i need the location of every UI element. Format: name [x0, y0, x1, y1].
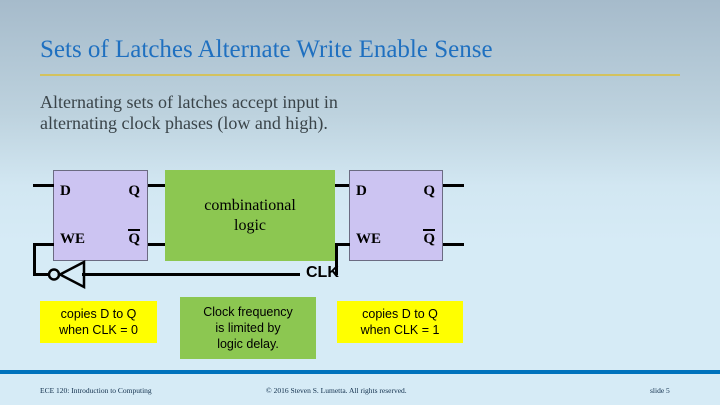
- wire-d-in-left: [33, 184, 54, 187]
- wire-we-left-drop: [33, 243, 36, 275]
- clk-label: CLK: [306, 264, 339, 282]
- footer-rule: [0, 370, 720, 374]
- latch-right-qbar-label: Q: [423, 231, 435, 248]
- latch-left-q-label: Q: [128, 183, 140, 200]
- combinational-logic-line-2: logic: [204, 216, 296, 236]
- page-title: Sets of Latches Alternate Write Enable S…: [40, 36, 680, 64]
- latch-right: D WE Q Q: [349, 170, 443, 261]
- latch-right-we-label: WE: [356, 231, 381, 248]
- callout-middle-line-3: logic delay.: [203, 336, 293, 352]
- combinational-logic-line-1: combinational: [204, 196, 296, 216]
- latch-right-d-label: D: [356, 183, 367, 200]
- latch-left-we-label: WE: [60, 231, 85, 248]
- latch-left-d-label: D: [60, 183, 71, 200]
- not-gate-icon: [46, 260, 96, 295]
- wire-we-left-stub: [33, 243, 54, 246]
- latch-right-qbar-text: Q: [423, 231, 435, 247]
- combinational-logic-block: combinational logic: [165, 170, 335, 261]
- callout-right: copies D to Q when CLK = 1: [337, 301, 463, 343]
- latch-left: D WE Q Q: [53, 170, 148, 261]
- callout-middle-line-1: Clock frequency: [203, 304, 293, 320]
- footer-copyright: © 2016 Steven S. Lumetta. All rights res…: [266, 386, 407, 395]
- wire-q-out-right: [443, 184, 464, 187]
- wire-we-right-drop: [335, 243, 338, 275]
- callout-left-line-2: when CLK = 0: [59, 322, 138, 338]
- latch-left-qbar-label: Q: [128, 231, 140, 248]
- wire-qbar-out-right: [443, 243, 464, 246]
- callout-middle-line-2: is limited by: [203, 320, 293, 336]
- title-underline-rule: [40, 74, 680, 76]
- wire-clk-bus: [82, 273, 300, 276]
- slide: Sets of Latches Alternate Write Enable S…: [0, 0, 720, 405]
- footer-slide-number: slide 5: [650, 386, 670, 395]
- callout-right-line-2: when CLK = 1: [361, 322, 440, 338]
- callout-left: copies D to Q when CLK = 0: [40, 301, 157, 343]
- latch-left-qbar-text: Q: [128, 231, 140, 247]
- callout-middle: Clock frequency is limited by logic dela…: [180, 297, 316, 359]
- callout-right-line-1: copies D to Q: [361, 306, 440, 322]
- wire-comb-out: [335, 184, 349, 187]
- footer-course: ECE 120: Introduction to Computing: [40, 386, 152, 395]
- latch-right-q-label: Q: [423, 183, 435, 200]
- body-text: Alternating sets of latches accept input…: [40, 92, 560, 134]
- callout-left-line-1: copies D to Q: [59, 306, 138, 322]
- body-text-line-2: alternating clock phases (low and high).: [40, 113, 560, 134]
- body-text-line-1: Alternating sets of latches accept input…: [40, 92, 560, 113]
